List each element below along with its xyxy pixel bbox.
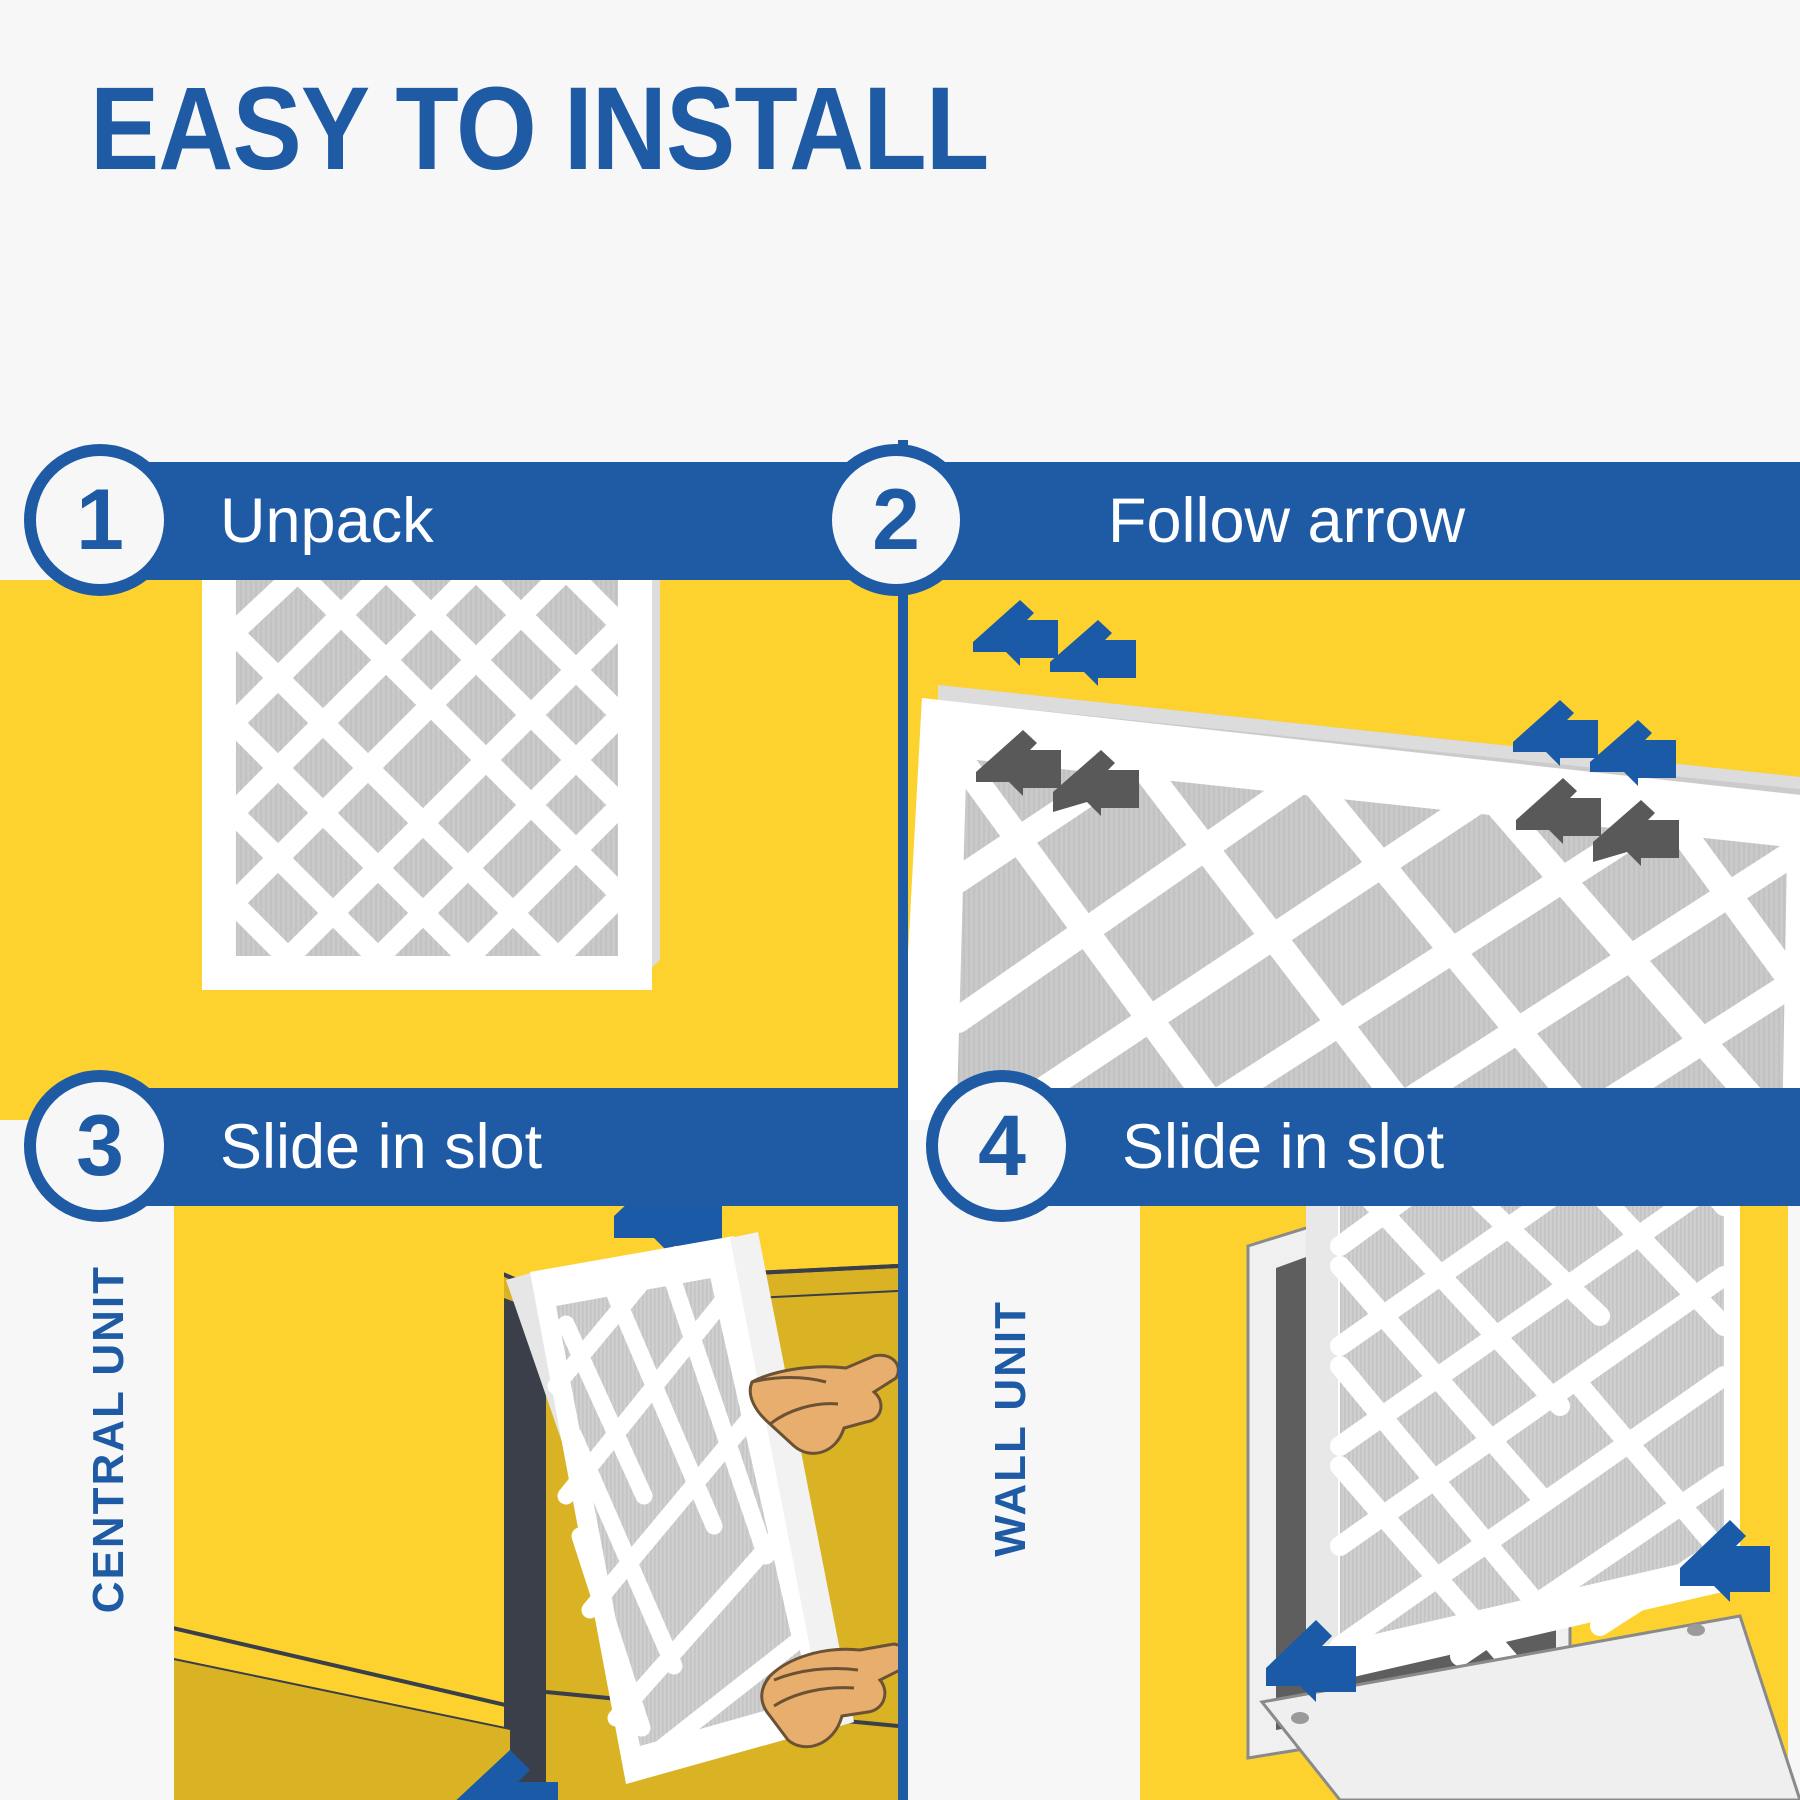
step-3-badge: 3 <box>24 1070 176 1222</box>
tilted-filter-illustration <box>908 580 1800 1120</box>
step-3-side-label: CENTRAL UNIT <box>84 1265 134 1613</box>
double-arrow-blue-left <box>973 600 1136 686</box>
step-panel-3 <box>174 1206 898 1800</box>
step-3-number: 3 <box>76 1097 124 1196</box>
step-4-number: 4 <box>978 1097 1026 1196</box>
step-2-badge: 2 <box>820 444 972 596</box>
filter-front-illustration <box>0 580 898 1120</box>
step-4-header-bar: Slide in slot <box>1012 1088 1800 1206</box>
page-title: EASY TO INSTALL <box>90 70 988 188</box>
central-unit-illustration <box>174 1206 898 1800</box>
wall-unit-illustration <box>1040 1206 1800 1800</box>
step-panel-1 <box>0 580 898 1120</box>
step-4-side-label: WALL UNIT <box>986 1300 1036 1557</box>
step-1-header-bar: Unpack <box>110 462 898 580</box>
step-2-header-bar: Follow arrow <box>908 462 1800 580</box>
step-panel-4 <box>1040 1206 1800 1800</box>
step-1-number: 1 <box>76 471 124 570</box>
step-panel-2 <box>908 580 1800 1120</box>
step-3-header-bar: Slide in slot <box>110 1088 898 1206</box>
step-2-label: Follow arrow <box>908 462 1465 580</box>
step-2-number: 2 <box>872 471 920 570</box>
step-4-badge: 4 <box>926 1070 1078 1222</box>
step-1-badge: 1 <box>24 444 176 596</box>
panel-divider-vertical-bottom <box>898 1066 908 1800</box>
